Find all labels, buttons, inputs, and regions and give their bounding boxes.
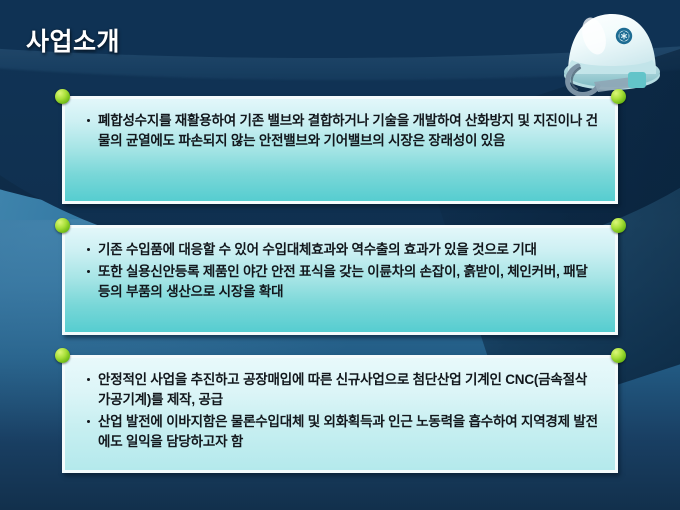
resize-handle-dot[interactable] [611,89,626,104]
content-box-3[interactable]: 안정적인 사업을 추진하고 공장매입에 따른 신규사업으로 첨단산업 기계인 C… [62,355,618,473]
resize-handle-dot[interactable] [55,89,70,104]
bullet-list-1: 폐합성수지를 재활용하여 기존 밸브와 결합하거나 기술을 개발하여 산화방지 … [87,111,601,151]
bullet-list-3: 안정적인 사업을 추진하고 공장매입에 따른 신규사업으로 첨단산업 기계인 C… [87,370,601,452]
content-box-2[interactable]: 기존 수입품에 대응할 수 있어 수입대체효과와 역수출의 효과가 있을 것으로… [62,225,618,335]
bullet-list-2: 기존 수입품에 대응할 수 있어 수입대체효과와 역수출의 효과가 있을 것으로… [87,240,601,302]
resize-handle-dot[interactable] [611,348,626,363]
safety-helmet-icon [554,2,674,102]
content-box-1[interactable]: 폐합성수지를 재활용하여 기존 밸브와 결합하거나 기술을 개발하여 산화방지 … [62,96,618,204]
resize-handle-dot[interactable] [55,218,70,233]
resize-handle-dot[interactable] [611,218,626,233]
list-item: 산업 발전에 이바지함은 물론수입대체 및 외화획득과 인근 노동력을 흡수하여… [87,412,601,452]
company-emblem-icon [616,28,632,44]
list-item: 또한 실용신안등록 제품인 야간 안전 표식을 갖는 이륜차의 손잡이, 흙받이… [87,262,601,302]
list-item: 기존 수입품에 대응할 수 있어 수입대체효과와 역수출의 효과가 있을 것으로… [87,240,601,260]
page-title: 사업소개 [26,22,120,58]
list-item: 폐합성수지를 재활용하여 기존 밸브와 결합하거나 기술을 개발하여 산화방지 … [87,111,601,151]
presentation-slide: 사업소개 폐합성수지를 재활용하여 기존 밸브와 결합하거나 기술을 개발하여 … [0,0,680,510]
list-item: 안정적인 사업을 추진하고 공장매입에 따른 신규사업으로 첨단산업 기계인 C… [87,370,601,410]
resize-handle-dot[interactable] [55,348,70,363]
